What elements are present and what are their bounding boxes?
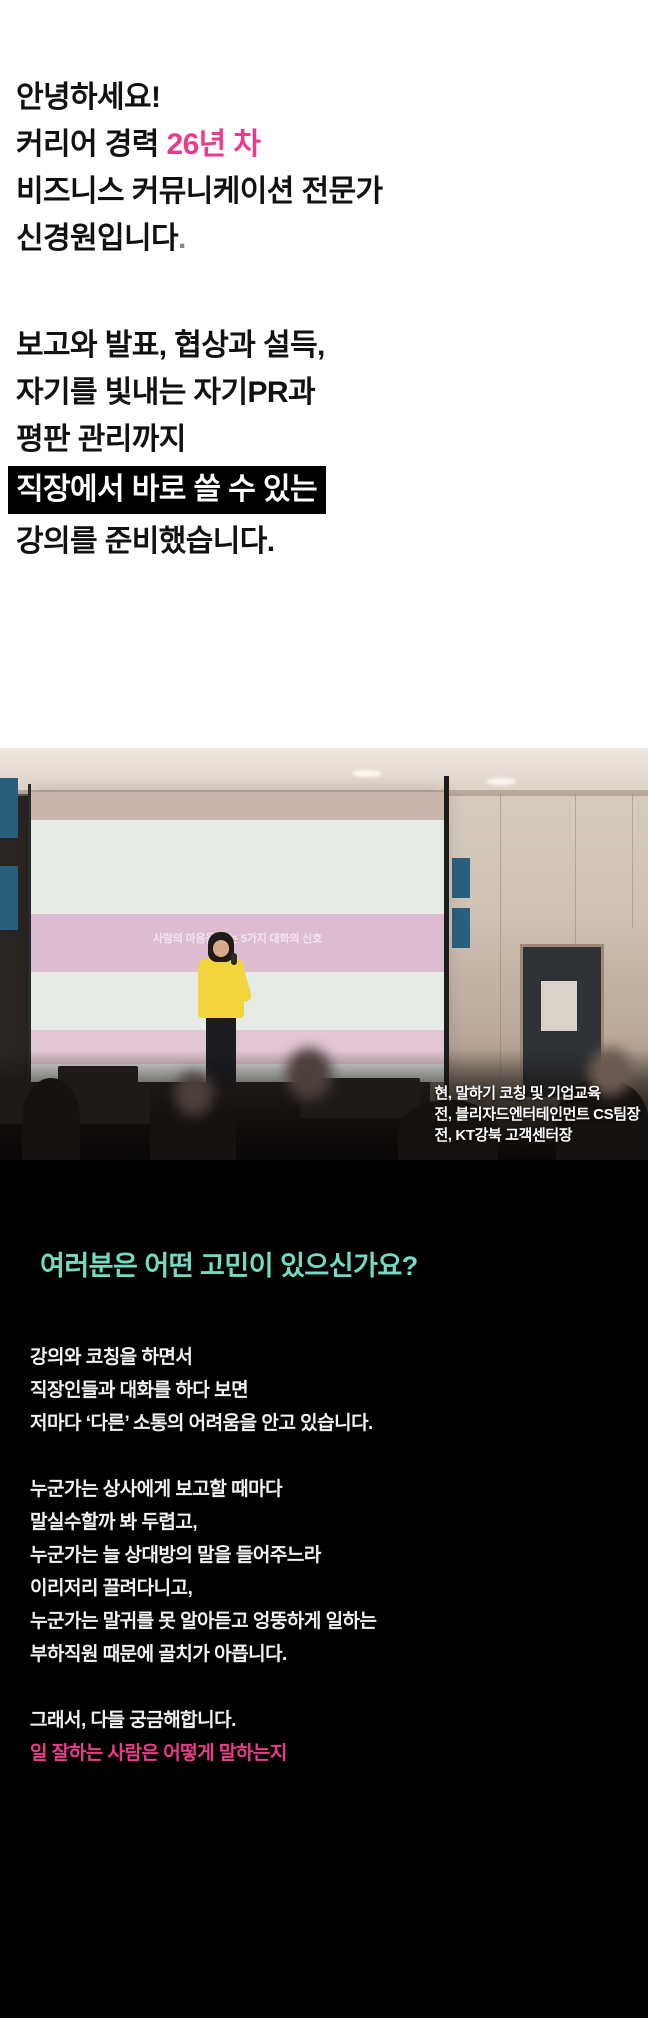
- screen-frame-right: [444, 776, 449, 1096]
- paragraph-3: 그래서, 다들 궁금해합니다. 일 잘하는 사람은 어떻게 말하는지: [30, 1704, 648, 1770]
- topic-line-3: 평판 관리까지: [16, 416, 648, 463]
- p2-line-2: 말실수할까 봐 두렵고,: [30, 1506, 648, 1539]
- intro-topics-block: 보고와 발표, 협상과 설득, 자기를 빛내는 자기PR과 평판 관리까지 직장…: [16, 262, 648, 565]
- caption-line-2: 전, 블리자드엔터테인먼트 CS팀장: [434, 1104, 640, 1125]
- pain-points-section: 여러분은 어떤 고민이 있으신가요? 강의와 코칭을 하면서 직장인들과 대화를…: [0, 1160, 648, 2018]
- pain-points-body: 강의와 코칭을 하면서 직장인들과 대화를 하다 보면 저마다 ‘다른’ 소통의…: [18, 1283, 648, 1770]
- career-years-highlight: 26년 차: [166, 128, 260, 161]
- caption-line-3: 전, KT강북 고객센터장: [434, 1125, 640, 1146]
- p3-line-1: 그래서, 다들 궁금해합니다.: [30, 1704, 648, 1737]
- intro-section: 안녕하세요! 커리어 경력 26년 차 비즈니스 커뮤니케이션 전문가 신경원입…: [0, 0, 648, 748]
- topic-line-2: 자기를 빛내는 자기PR과: [16, 369, 648, 416]
- speaker-name-text: 신경원입니다: [16, 222, 178, 255]
- lecture-hall-photo: 사람의 마음을 여는 5가지 대화의 신호 현, 말하기 코칭 및 기업교육: [0, 748, 648, 1160]
- p2-line-3: 누군가는 늘 상대방의 말을 들어주느라: [30, 1539, 648, 1572]
- speaker-face: [213, 940, 229, 957]
- p2-line-1: 누군가는 상사에게 보고할 때마다: [30, 1473, 648, 1506]
- topic-line-1: 보고와 발표, 협상과 설득,: [16, 322, 648, 369]
- door-window: [541, 981, 577, 1031]
- topic-line-highlighted: 직장에서 바로 쓸 수 있는: [8, 466, 326, 514]
- ceiling: [0, 748, 648, 794]
- p2-line-5: 누군가는 말귀를 못 알아듣고 엉뚱하게 일하는: [30, 1605, 648, 1638]
- p3-line-2-highlight: 일 잘하는 사람은 어떻게 말하는지: [30, 1737, 648, 1770]
- caption-line-1: 현, 말하기 코칭 및 기업교육: [434, 1083, 640, 1104]
- speaker-microphone: [231, 953, 237, 965]
- intro-line-name: 신경원입니다.: [16, 215, 648, 262]
- section-heading: 여러분은 어떤 고민이 있으신가요?: [18, 1160, 648, 1283]
- p1-line-1: 강의와 코칭을 하면서: [30, 1341, 648, 1374]
- projection-screen: 사람의 마음을 여는 5가지 대화의 신호: [30, 792, 445, 1082]
- paragraph-gap-1: [30, 1440, 648, 1473]
- topic-line-closing: 강의를 준비했습니다.: [16, 518, 648, 565]
- paragraph-1: 강의와 코칭을 하면서 직장인들과 대화를 하다 보면 저마다 ‘다른’ 소통의…: [30, 1341, 648, 1440]
- ceiling-light-2: [486, 778, 516, 785]
- wall-seam-1: [500, 748, 501, 1078]
- career-prefix-text: 커리어 경력: [16, 128, 166, 161]
- audience-head-blurred-2: [286, 1048, 332, 1100]
- screen-frame-left: [28, 784, 31, 1090]
- ceiling-light-1: [352, 770, 382, 777]
- p2-line-6: 부하직원 때문에 골치가 아픕니다.: [30, 1638, 648, 1671]
- photo-caption: 현, 말하기 코칭 및 기업교육 전, 블리자드엔터테인먼트 CS팀장 전, K…: [434, 1083, 640, 1146]
- p2-line-4: 이리저리 끌려다니고,: [30, 1572, 648, 1605]
- intro-greeting-block: 안녕하세요! 커리어 경력 26년 차 비즈니스 커뮤니케이션 전문가 신경원입…: [16, 0, 648, 262]
- p1-line-3: 저마다 ‘다른’ 소통의 어려움을 안고 있습니다.: [30, 1407, 648, 1440]
- p1-line-2: 직장인들과 대화를 하다 보면: [30, 1374, 648, 1407]
- audience-head-blurred-1: [174, 1072, 214, 1116]
- intro-line-specialty: 비즈니스 커뮤니케이션 전문가: [16, 168, 648, 215]
- acoustic-panel-right-1: [452, 858, 470, 898]
- screen-band-top: [30, 792, 445, 820]
- photo-canvas: 사람의 마음을 여는 5가지 대화의 신호 현, 말하기 코칭 및 기업교육: [0, 748, 648, 1160]
- name-period: .: [178, 222, 186, 255]
- paragraph-2: 누군가는 상사에게 보고할 때마다 말실수할까 봐 두렵고, 누군가는 늘 상대…: [30, 1473, 648, 1671]
- acoustic-panel-left-2: [0, 866, 18, 930]
- audience-1: [22, 1078, 80, 1160]
- screen-slide-title: 사람의 마음을 여는 5가지 대화의 신호: [30, 930, 445, 946]
- acoustic-panel-left-1: [0, 778, 18, 838]
- acoustic-panel-right-2: [452, 908, 470, 948]
- intro-line-greeting: 안녕하세요!: [16, 74, 648, 121]
- intro-line-career: 커리어 경력 26년 차: [16, 121, 648, 168]
- paragraph-gap-2: [30, 1671, 648, 1704]
